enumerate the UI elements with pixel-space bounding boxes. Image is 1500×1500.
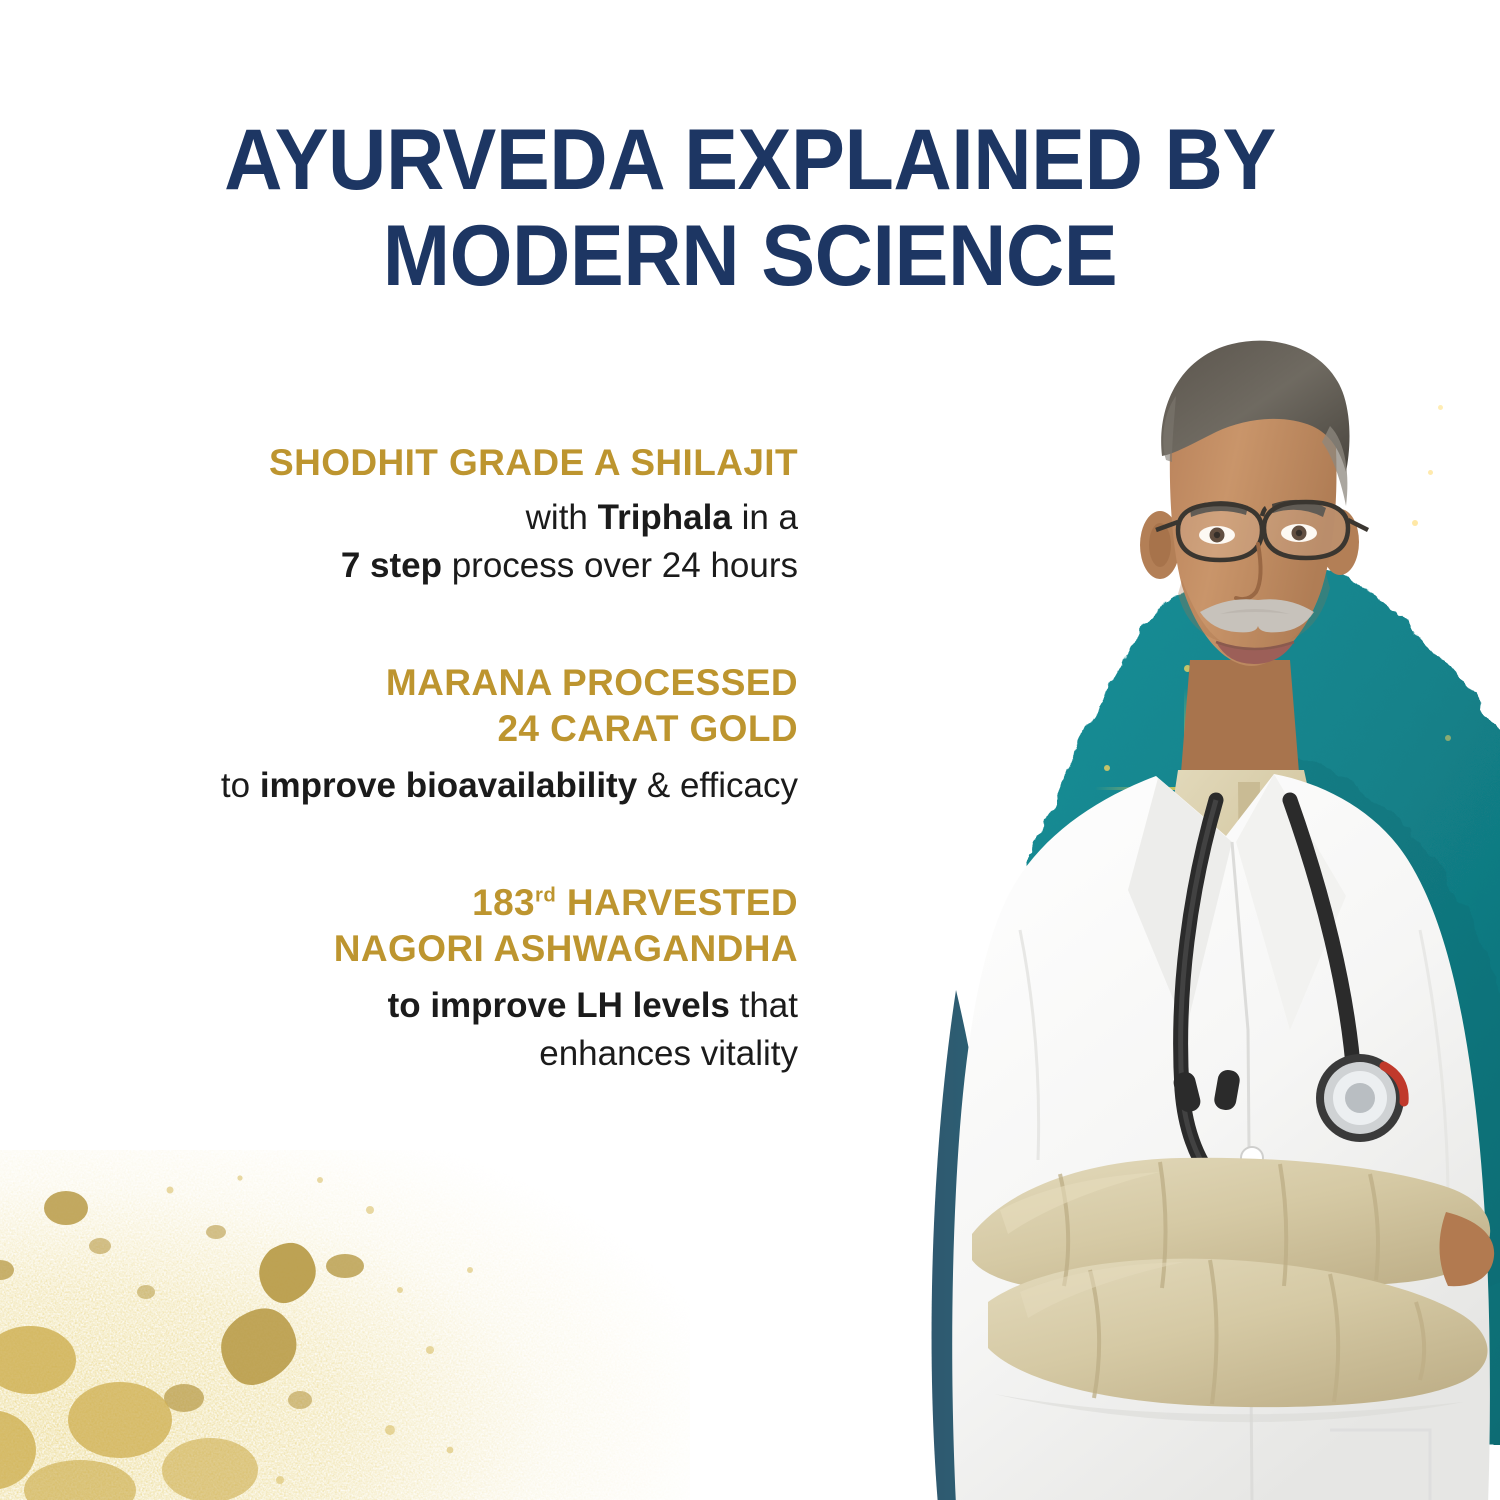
benefit-item-shilajit: SHODHIT GRADE A SHILAJIT with Triphala i…	[60, 440, 798, 590]
text-post: in a	[732, 498, 798, 537]
harvest-number: 183	[472, 882, 535, 923]
doctor-portrait-image	[860, 330, 1500, 1500]
benefit-body-gold-line-1: to improve bioavailability & efficacy	[60, 762, 798, 810]
text-post: that	[730, 986, 798, 1025]
text-pre: to	[221, 766, 260, 805]
text-post: & efficacy	[637, 766, 798, 805]
text-strong: 7 step	[341, 546, 442, 585]
benefit-heading-ashwagandha-line-2: NAGORI ASHWAGANDHA	[60, 926, 798, 972]
benefit-body-ashwagandha-line-1: to improve LH levels that	[60, 982, 798, 1030]
text-post: process over 24 hours	[442, 546, 798, 585]
benefit-body-shilajit-line-1: with Triphala in a	[60, 494, 798, 542]
text-strong: improve bioavailability	[260, 766, 637, 805]
text-strong: to improve LH levels	[388, 986, 730, 1025]
page-title-line-1: AYURVEDA EXPLAINED BY	[45, 112, 1455, 208]
benefit-heading-ashwagandha-line-1: 183rd HARVESTED	[60, 880, 798, 926]
harvest-label: HARVESTED	[556, 882, 798, 923]
benefit-heading-gold-line-2: 24 CARAT GOLD	[60, 706, 798, 752]
benefit-item-ashwagandha: 183rd HARVESTED NAGORI ASHWAGANDHA to im…	[60, 880, 798, 1078]
page-title: AYURVEDA EXPLAINED BY MODERN SCIENCE	[0, 112, 1500, 304]
benefit-heading-gold-line-1: MARANA PROCESSED	[60, 660, 798, 706]
poster-canvas: AYURVEDA EXPLAINED BY MODERN SCIENCE SHO…	[0, 0, 1500, 1500]
benefit-body-ashwagandha-line-2: enhances vitality	[60, 1030, 798, 1078]
benefit-body-shilajit-line-2: 7 step process over 24 hours	[60, 542, 798, 590]
benefit-list: SHODHIT GRADE A SHILAJIT with Triphala i…	[60, 440, 798, 1078]
page-title-line-2: MODERN SCIENCE	[45, 208, 1455, 304]
ordinal-suffix: rd	[535, 885, 556, 907]
benefit-item-gold: MARANA PROCESSED 24 CARAT GOLD to improv…	[60, 660, 798, 810]
gold-powder-texture	[0, 1150, 690, 1500]
text-strong: Triphala	[598, 498, 732, 537]
benefit-heading-shilajit: SHODHIT GRADE A SHILAJIT	[60, 440, 798, 486]
text-pre: with	[526, 498, 598, 537]
